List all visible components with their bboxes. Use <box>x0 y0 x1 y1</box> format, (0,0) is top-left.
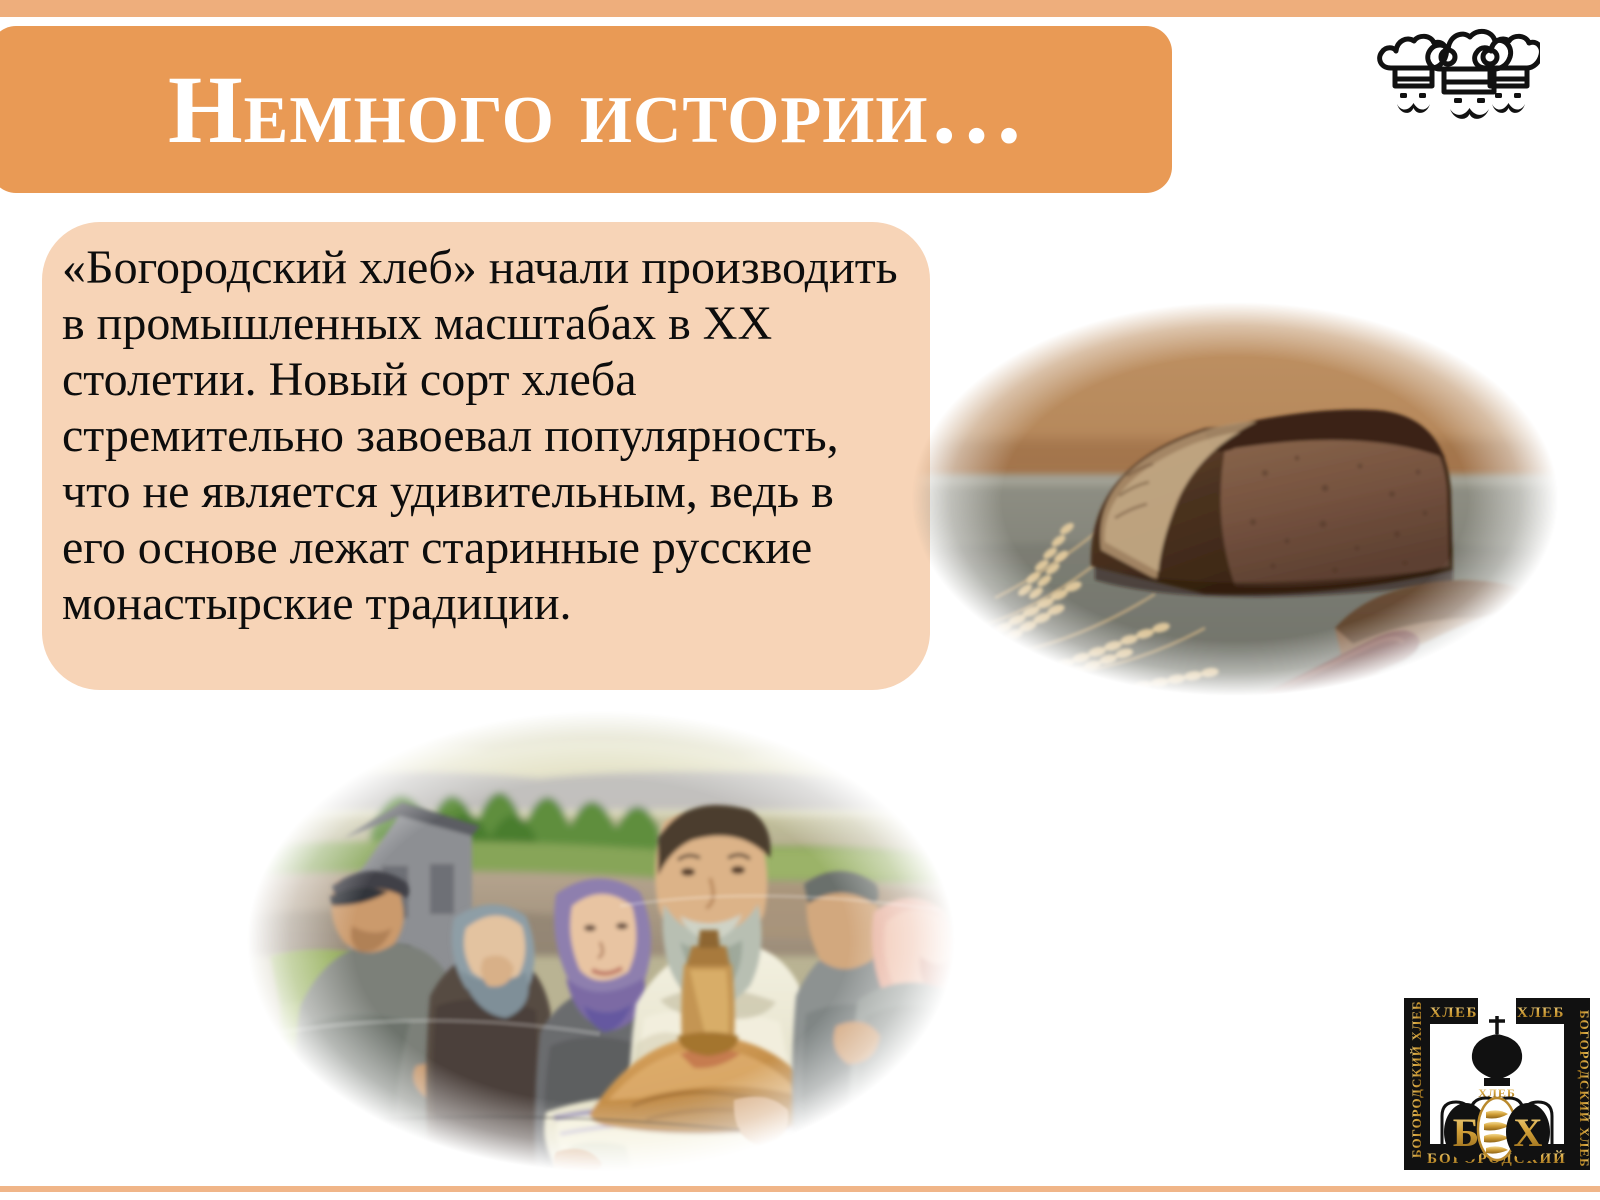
logo-monogram-left: Б <box>1453 1110 1479 1155</box>
logo-left-side-word: БОГОРОДСКИЙ ХЛЕБ <box>1409 1000 1424 1158</box>
page-title: Немного истории… <box>168 58 1148 162</box>
bogorodsky-hleb-logo: ХЛЕБ ХЛЕБ БОГОРОДСКИЙ БОГОРОДСКИЙ ХЛЕБ Б… <box>1404 998 1590 1170</box>
logo-top-left-word: ХЛЕБ <box>1430 1005 1478 1021</box>
top-accent-strip <box>0 0 1600 17</box>
logo-right-side-word: БОГОРОДСКИЙ ХЛЕБ <box>1577 1010 1590 1168</box>
logo-top-right-word: ХЛЕБ <box>1517 1005 1565 1021</box>
bottom-accent-strip <box>0 1186 1600 1192</box>
logo-monogram-right: Х <box>1514 1110 1543 1155</box>
bread-and-salt-painting <box>240 706 962 1176</box>
body-paragraph: «Богородский хлеб» начали производить в … <box>62 240 902 632</box>
chef-hats-icon <box>1374 24 1540 120</box>
bread-photo <box>905 298 1565 700</box>
